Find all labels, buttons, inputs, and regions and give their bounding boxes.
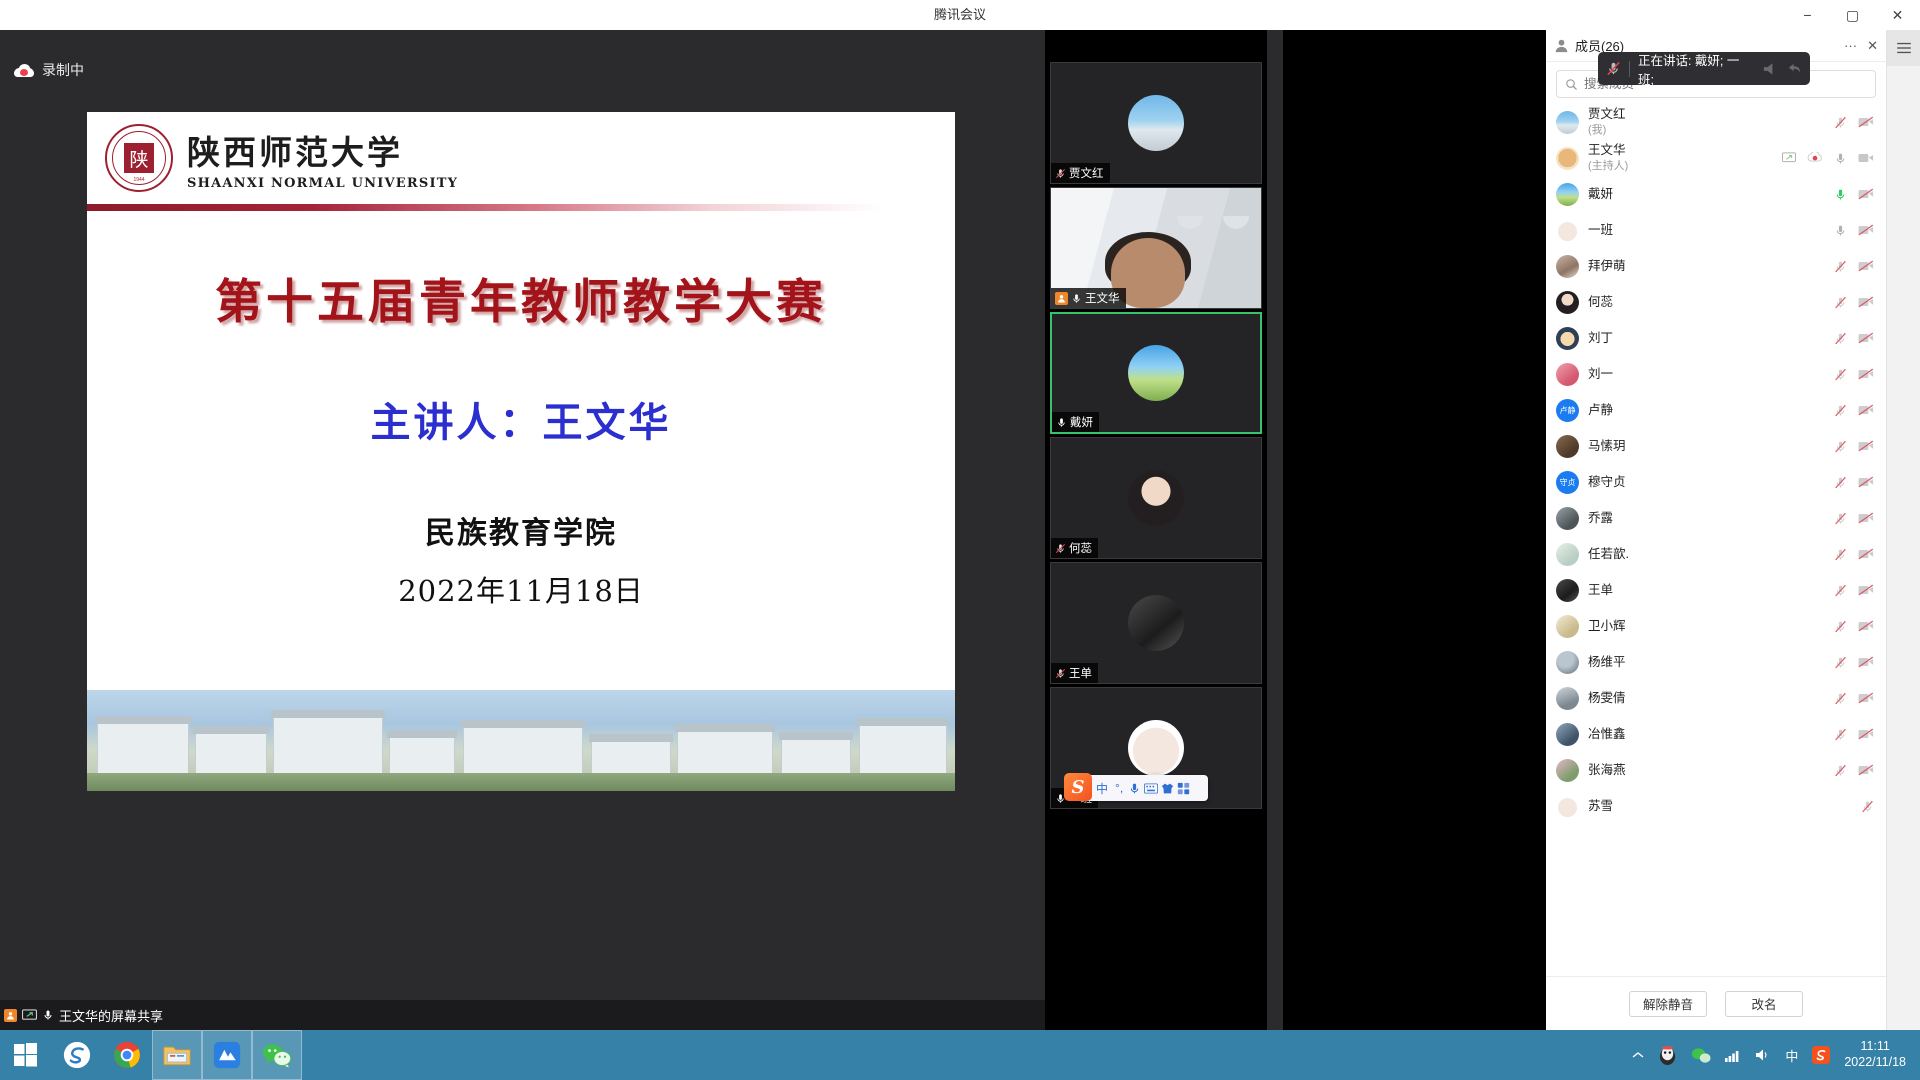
mic-on-icon bbox=[1056, 417, 1067, 428]
participant-row[interactable]: 冶惟鑫 bbox=[1546, 716, 1886, 752]
participant-status-icons bbox=[1834, 332, 1874, 345]
ime-skin-icon[interactable] bbox=[1161, 782, 1174, 795]
clock-date: 2022/11/18 bbox=[1844, 1055, 1906, 1071]
participant-status-icons bbox=[1834, 440, 1874, 453]
participant-name: 乔露 bbox=[1588, 511, 1613, 525]
participant-row[interactable]: 拜伊萌 bbox=[1546, 248, 1886, 284]
participant-avatar bbox=[1556, 255, 1579, 278]
ime-mode-toggle[interactable]: 中 bbox=[1094, 780, 1110, 797]
host-badge-icon bbox=[1055, 292, 1068, 305]
participant-camera-icon[interactable] bbox=[1858, 512, 1874, 524]
participant-camera-icon[interactable] bbox=[1858, 656, 1874, 668]
participant-avatar: 卢静 bbox=[1556, 399, 1579, 422]
video-filmstrip[interactable]: 贾文红 王文华 bbox=[1045, 30, 1267, 1030]
ime-apps-icon[interactable] bbox=[1177, 782, 1190, 795]
sogou-logo-icon[interactable]: S bbox=[1064, 773, 1092, 801]
windows-taskbar[interactable]: 中 11:11 2022/11/18 bbox=[0, 1030, 1920, 1080]
participant-camera-icon[interactable] bbox=[1858, 548, 1874, 560]
participant-status-icons bbox=[1834, 296, 1874, 309]
video-tile-active-speaker[interactable]: 戴妍 bbox=[1050, 312, 1262, 434]
taskbar-clock[interactable]: 11:11 2022/11/18 bbox=[1844, 1039, 1906, 1070]
participant-avatar bbox=[1556, 291, 1579, 314]
participant-mic-icon[interactable] bbox=[1834, 764, 1847, 777]
window-title: 腾讯会议 bbox=[0, 0, 1920, 30]
video-tile-name: 戴妍 bbox=[1070, 414, 1093, 430]
window-titlebar: 腾讯会议 − ▢ ✕ bbox=[0, 0, 1920, 30]
video-tile-namebar: 戴妍 bbox=[1052, 412, 1099, 432]
participant-row[interactable]: 刘丁 bbox=[1546, 320, 1886, 356]
share-mic-icon bbox=[42, 1009, 54, 1021]
participant-mic-icon[interactable] bbox=[1834, 692, 1847, 705]
participant-mic-icon[interactable] bbox=[1861, 800, 1874, 813]
participant-camera-icon[interactable] bbox=[1858, 404, 1874, 416]
participant-camera-icon[interactable] bbox=[1858, 584, 1874, 596]
seal-character: 陕 bbox=[124, 143, 154, 173]
avatar bbox=[1128, 345, 1184, 401]
participant-avatar bbox=[1556, 723, 1579, 746]
participant-camera-icon[interactable] bbox=[1858, 152, 1874, 164]
participant-name: 刘一 bbox=[1588, 367, 1613, 381]
rename-button[interactable]: 改名 bbox=[1725, 991, 1803, 1017]
participant-status-icons bbox=[1834, 656, 1874, 669]
video-tile-namebar: 王单 bbox=[1051, 663, 1098, 683]
participant-row[interactable]: 杨雯倩 bbox=[1546, 680, 1886, 716]
video-tile-name: 王单 bbox=[1069, 665, 1092, 681]
participant-camera-icon[interactable] bbox=[1858, 728, 1874, 740]
video-tile[interactable]: 王文华 bbox=[1050, 187, 1262, 309]
window-controls: − ▢ ✕ bbox=[1785, 0, 1920, 30]
participant-mic-icon[interactable] bbox=[1834, 404, 1847, 417]
participant-row[interactable]: 何蕊 bbox=[1546, 284, 1886, 320]
participant-camera-icon[interactable] bbox=[1858, 260, 1874, 272]
video-tile-namebar: 贾文红 bbox=[1051, 163, 1110, 183]
participant-name: 王文华 bbox=[1588, 143, 1628, 157]
screen-share-icon bbox=[1782, 152, 1796, 164]
participant-role: (主持人) bbox=[1588, 157, 1628, 173]
reply-arrow-icon[interactable] bbox=[1787, 62, 1802, 75]
participants-panel: 成员(26) ··· ✕ 贾文红(我)王文华(主持人)戴妍一班拜伊萌何蕊刘丁刘一… bbox=[1546, 30, 1886, 1030]
participant-status-icons bbox=[1834, 548, 1874, 561]
seal-year: 1944 bbox=[107, 177, 171, 183]
video-tile-name: 贾文红 bbox=[1069, 165, 1104, 181]
participant-name: 一班 bbox=[1588, 223, 1613, 237]
participant-status-icons bbox=[1834, 476, 1874, 489]
participant-avatar bbox=[1556, 651, 1579, 674]
participant-avatar bbox=[1556, 795, 1579, 818]
participant-row[interactable]: 一班 bbox=[1546, 212, 1886, 248]
speaking-toast-text: 正在讲话: 戴妍; 一班; bbox=[1638, 50, 1754, 88]
slide-date: 2022年11月18日 bbox=[87, 568, 955, 610]
participant-status-icons bbox=[1834, 368, 1874, 381]
participant-name: 戴妍 bbox=[1588, 187, 1613, 201]
video-tile[interactable]: 贾文红 bbox=[1050, 62, 1262, 184]
participant-mic-icon[interactable] bbox=[1834, 224, 1847, 237]
search-icon bbox=[1565, 78, 1578, 91]
participant-avatar: 守贞 bbox=[1556, 471, 1579, 494]
participant-status-icons bbox=[1861, 800, 1874, 813]
participant-row[interactable]: 卢静卢静 bbox=[1546, 392, 1886, 428]
slide-department: 民族教育学院 bbox=[87, 508, 955, 552]
participant-camera-icon[interactable] bbox=[1858, 620, 1874, 632]
video-tile[interactable]: 何蕊 bbox=[1050, 437, 1262, 559]
participant-avatar bbox=[1556, 759, 1579, 782]
participant-name: 贾文红 bbox=[1588, 107, 1626, 121]
close-icon[interactable]: ✕ bbox=[1875, 0, 1920, 30]
participant-status-icons bbox=[1834, 224, 1874, 237]
participant-avatar bbox=[1556, 687, 1579, 710]
participant-avatar bbox=[1556, 219, 1579, 242]
recording-icon bbox=[1807, 152, 1823, 164]
participant-row[interactable]: 刘一 bbox=[1546, 356, 1886, 392]
unmute-all-button[interactable]: 解除静音 bbox=[1629, 991, 1707, 1017]
slide-body: 第十五届青年教师教学大赛 主讲人：王文华 民族教育学院 2022年11月18日 bbox=[87, 211, 955, 697]
ime-keyboard-icon[interactable] bbox=[1144, 783, 1158, 794]
ime-punctuation-toggle[interactable]: °, bbox=[1113, 781, 1125, 795]
avatar bbox=[1128, 470, 1184, 526]
volume-icon[interactable] bbox=[1755, 1048, 1771, 1062]
participant-name: 苏雪 bbox=[1588, 799, 1613, 813]
participant-name: 刘丁 bbox=[1588, 331, 1613, 345]
wechat-icon[interactable] bbox=[252, 1030, 302, 1080]
participant-row[interactable]: 守贞穆守贞 bbox=[1546, 464, 1886, 500]
participant-name: 任若歆. bbox=[1588, 547, 1629, 561]
participant-mic-icon[interactable] bbox=[1834, 728, 1847, 741]
participant-mic-icon[interactable] bbox=[1834, 152, 1847, 165]
chevron-up-icon[interactable] bbox=[1632, 1051, 1644, 1060]
participant-role: (我) bbox=[1588, 121, 1626, 137]
participant-avatar bbox=[1556, 147, 1579, 170]
participant-mic-icon[interactable] bbox=[1834, 260, 1847, 273]
system-tray[interactable]: 中 11:11 2022/11/18 bbox=[1632, 1039, 1920, 1070]
participant-name: 穆守贞 bbox=[1588, 475, 1626, 489]
participant-mic-icon[interactable] bbox=[1834, 548, 1847, 561]
start-icon[interactable] bbox=[0, 1030, 52, 1080]
participant-avatar bbox=[1556, 579, 1579, 602]
participant-mic-icon[interactable] bbox=[1834, 512, 1847, 525]
mic-muted-toast-icon bbox=[1606, 61, 1621, 76]
participant-status-icons bbox=[1834, 512, 1874, 525]
participant-status-icons bbox=[1834, 584, 1874, 597]
video-tile-name: 何蕊 bbox=[1069, 540, 1092, 556]
slide-title: 第十五届青年教师教学大赛 bbox=[87, 263, 955, 332]
participants-panel-footer: 解除静音 改名 bbox=[1546, 976, 1886, 1030]
participant-status-icons bbox=[1782, 152, 1874, 165]
screen-share-bar: 王文华的屏幕共享 bbox=[0, 1000, 1045, 1030]
participant-avatar bbox=[1556, 507, 1579, 530]
participant-avatar bbox=[1556, 615, 1579, 638]
panel-menu-icon[interactable] bbox=[1887, 30, 1920, 66]
participants-list[interactable]: 贾文红(我)王文华(主持人)戴妍一班拜伊萌何蕊刘丁刘一卢静卢静马愫玥守贞穆守贞乔… bbox=[1546, 104, 1886, 976]
ime-toolbar[interactable]: S 中 °, bbox=[1068, 775, 1208, 801]
mic-muted-icon bbox=[1055, 168, 1066, 179]
ime-voice-icon[interactable] bbox=[1128, 782, 1141, 795]
share-host-badge-icon bbox=[4, 1009, 17, 1022]
participant-mic-icon[interactable] bbox=[1834, 332, 1847, 345]
participant-status-icons bbox=[1834, 260, 1874, 273]
slide-divider-rule bbox=[87, 204, 955, 211]
participant-status-icons bbox=[1834, 728, 1874, 741]
participant-row[interactable]: 卫小辉 bbox=[1546, 608, 1886, 644]
participant-camera-icon[interactable] bbox=[1858, 116, 1874, 128]
mic-muted-icon bbox=[1055, 543, 1066, 554]
participant-camera-icon[interactable] bbox=[1858, 296, 1874, 308]
participant-avatar bbox=[1556, 111, 1579, 134]
participant-camera-icon[interactable] bbox=[1858, 440, 1874, 452]
participant-name: 王单 bbox=[1588, 583, 1613, 597]
panel-close-icon[interactable]: ✕ bbox=[1867, 38, 1878, 54]
meeting-icon[interactable] bbox=[202, 1030, 252, 1080]
participant-name: 何蕊 bbox=[1588, 295, 1613, 309]
participant-mic-icon[interactable] bbox=[1834, 116, 1847, 129]
participant-mic-icon[interactable] bbox=[1834, 188, 1847, 201]
participant-row[interactable]: 苏雪 bbox=[1546, 788, 1886, 824]
participant-row[interactable]: 戴妍 bbox=[1546, 176, 1886, 212]
mic-muted-icon bbox=[1055, 668, 1066, 679]
participant-status-icons bbox=[1834, 116, 1874, 129]
participant-name: 拜伊萌 bbox=[1588, 259, 1626, 273]
video-tile[interactable]: 王单 bbox=[1050, 562, 1262, 684]
participant-status-icons bbox=[1834, 188, 1874, 201]
participant-name: 卫小辉 bbox=[1588, 619, 1626, 633]
participant-status-icons bbox=[1834, 764, 1874, 777]
participant-row[interactable]: 杨维平 bbox=[1546, 644, 1886, 680]
avatar bbox=[1128, 95, 1184, 151]
sogou-tray-icon[interactable] bbox=[1812, 1046, 1830, 1064]
network-icon[interactable] bbox=[1725, 1049, 1741, 1062]
share-bar-label: 王文华的屏幕共享 bbox=[59, 1006, 163, 1025]
slide-campus-photo bbox=[87, 690, 955, 791]
slide-speaker: 主讲人：王文华 bbox=[87, 390, 955, 448]
share-screen-icon bbox=[22, 1009, 37, 1022]
participant-status-icons bbox=[1834, 620, 1874, 633]
participant-row[interactable]: 任若歆. bbox=[1546, 536, 1886, 572]
ime-cn-indicator[interactable]: 中 bbox=[1785, 1046, 1798, 1065]
maximize-icon[interactable]: ▢ bbox=[1830, 0, 1875, 30]
participant-camera-icon[interactable] bbox=[1858, 188, 1874, 200]
clock-time: 11:11 bbox=[1844, 1039, 1906, 1055]
participant-row[interactable]: 贾文红(我) bbox=[1546, 104, 1886, 140]
participant-avatar bbox=[1556, 327, 1579, 350]
mic-on-icon bbox=[1071, 293, 1082, 304]
participant-camera-icon[interactable] bbox=[1858, 476, 1874, 488]
participant-camera-icon[interactable] bbox=[1858, 368, 1874, 380]
minimize-icon[interactable]: − bbox=[1785, 0, 1830, 30]
university-name-cn: 陕西师范大学 bbox=[187, 126, 458, 174]
participant-row[interactable]: 乔露 bbox=[1546, 500, 1886, 536]
participant-mic-icon[interactable] bbox=[1834, 476, 1847, 489]
participant-mic-icon[interactable] bbox=[1834, 656, 1847, 669]
recording-indicator: 录制中 bbox=[14, 60, 84, 80]
participant-status-icons bbox=[1834, 692, 1874, 705]
participant-avatar bbox=[1556, 435, 1579, 458]
participant-mic-icon[interactable] bbox=[1834, 368, 1847, 381]
sogou-icon[interactable] bbox=[52, 1030, 102, 1080]
participant-mic-icon[interactable] bbox=[1834, 440, 1847, 453]
participant-name: 杨维平 bbox=[1588, 655, 1626, 669]
participant-mic-icon[interactable] bbox=[1834, 620, 1847, 633]
video-tile-namebar: 何蕊 bbox=[1051, 538, 1098, 558]
participant-row[interactable]: 王单 bbox=[1546, 572, 1886, 608]
participant-camera-icon[interactable] bbox=[1858, 332, 1874, 344]
participant-row[interactable]: 张海燕 bbox=[1546, 752, 1886, 788]
explorer-icon[interactable] bbox=[152, 1030, 202, 1080]
video-tile-namebar: 王文华 bbox=[1051, 288, 1126, 308]
participant-row[interactable]: 马愫玥 bbox=[1546, 428, 1886, 464]
participant-avatar bbox=[1556, 543, 1579, 566]
recording-cloud-icon bbox=[14, 64, 34, 77]
university-seal-icon: 陕 1944 bbox=[105, 124, 173, 192]
participant-status-icons bbox=[1834, 404, 1874, 417]
participant-camera-icon[interactable] bbox=[1858, 224, 1874, 236]
participant-avatar bbox=[1556, 363, 1579, 386]
wechat-tray-icon[interactable] bbox=[1691, 1047, 1711, 1064]
participant-name: 马愫玥 bbox=[1588, 439, 1626, 453]
participant-camera-icon[interactable] bbox=[1858, 692, 1874, 704]
participant-mic-icon[interactable] bbox=[1834, 296, 1847, 309]
participant-name: 冶惟鑫 bbox=[1588, 727, 1626, 741]
recording-label: 录制中 bbox=[42, 60, 84, 80]
participant-avatar bbox=[1556, 183, 1579, 206]
people-icon bbox=[1554, 38, 1569, 53]
slide-header: 陕 1944 陕西师范大学 SHAANXI NORMAL UNIVERSITY bbox=[87, 112, 955, 204]
participant-name: 卢静 bbox=[1588, 403, 1613, 417]
participant-camera-icon[interactable] bbox=[1858, 764, 1874, 776]
chrome-icon[interactable] bbox=[102, 1030, 152, 1080]
participant-name: 张海燕 bbox=[1588, 763, 1626, 777]
more-options-icon[interactable]: ··· bbox=[1844, 38, 1857, 54]
speaking-toast: 正在讲话: 戴妍; 一班; bbox=[1598, 52, 1810, 85]
participant-mic-icon[interactable] bbox=[1834, 584, 1847, 597]
video-tile-name: 王文华 bbox=[1085, 290, 1120, 306]
panel-side-rail bbox=[1886, 30, 1920, 1030]
avatar bbox=[1128, 595, 1184, 651]
speaker-wave-icon bbox=[1762, 62, 1779, 76]
presentation-slide: 陕 1944 陕西师范大学 SHAANXI NORMAL UNIVERSITY … bbox=[87, 112, 955, 791]
participant-name: 杨雯倩 bbox=[1588, 691, 1626, 705]
avatar bbox=[1128, 720, 1184, 776]
participant-row[interactable]: 王文华(主持人) bbox=[1546, 140, 1886, 176]
qq-icon[interactable] bbox=[1658, 1045, 1677, 1066]
university-name-en: SHAANXI NORMAL UNIVERSITY bbox=[187, 176, 458, 191]
